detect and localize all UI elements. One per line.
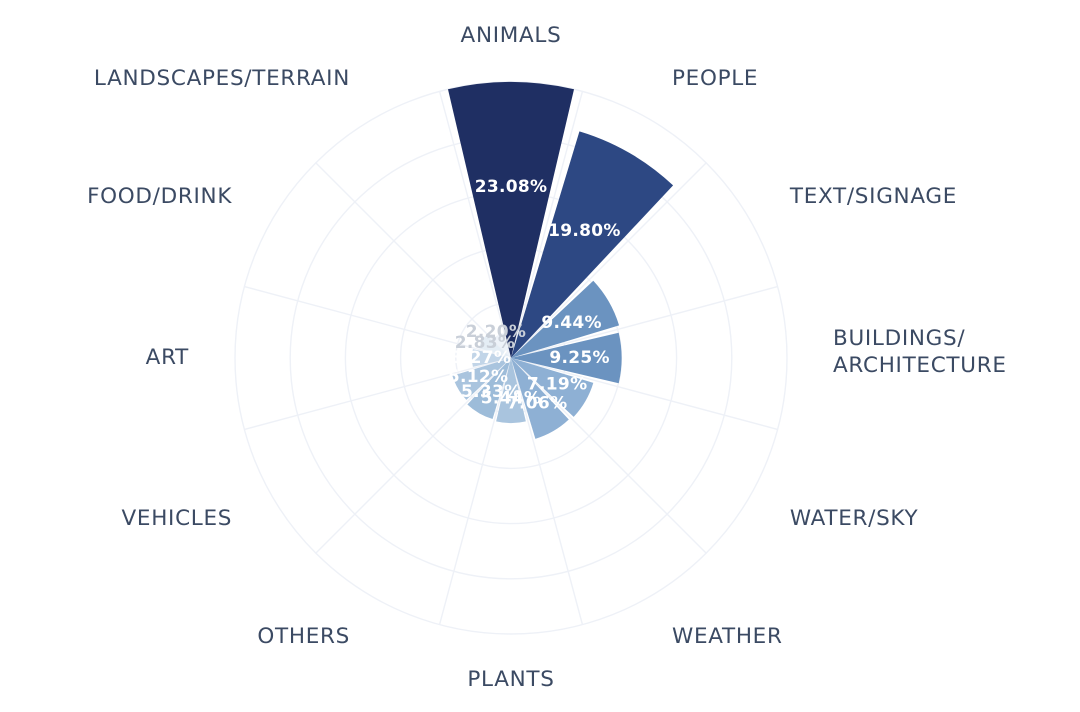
polar-rose-chart-svg: 23.08%19.80%9.44%9.25%7.19%7.06%5.44%5.3… xyxy=(0,0,1080,712)
category-label: PLANTS xyxy=(467,667,554,692)
category-label: OTHERS xyxy=(257,624,350,649)
wedge-value-label: 23.08% xyxy=(475,177,548,197)
wedge-value-label: 2.20% xyxy=(466,322,526,342)
category-label: FOOD/DRINK xyxy=(87,184,232,209)
category-label-line: ARCHITECTURE xyxy=(833,353,1007,378)
category-label: VEHICLES xyxy=(122,506,233,531)
wedge-value-label: 5.12% xyxy=(448,367,508,387)
wedge-value-label: 9.44% xyxy=(541,313,601,333)
wedge-value-label: 19.80% xyxy=(548,221,621,241)
category-label: WATER/SKY xyxy=(790,506,919,531)
category-label: ANIMALS xyxy=(461,23,562,48)
wedge-value-label: 9.25% xyxy=(549,348,609,368)
category-label-line: BUILDINGS/ xyxy=(833,326,965,351)
category-label: LANDSCAPES/TERRAIN xyxy=(94,66,350,91)
category-label: ART xyxy=(146,345,189,370)
category-label: BUILDINGS/ARCHITECTURE xyxy=(833,326,1007,378)
category-label: WEATHER xyxy=(672,624,783,649)
rose-chart: 23.08%19.80%9.44%9.25%7.19%7.06%5.44%5.3… xyxy=(0,0,1080,712)
category-label: PEOPLE xyxy=(672,66,758,91)
category-label: TEXT/SIGNAGE xyxy=(789,184,957,209)
